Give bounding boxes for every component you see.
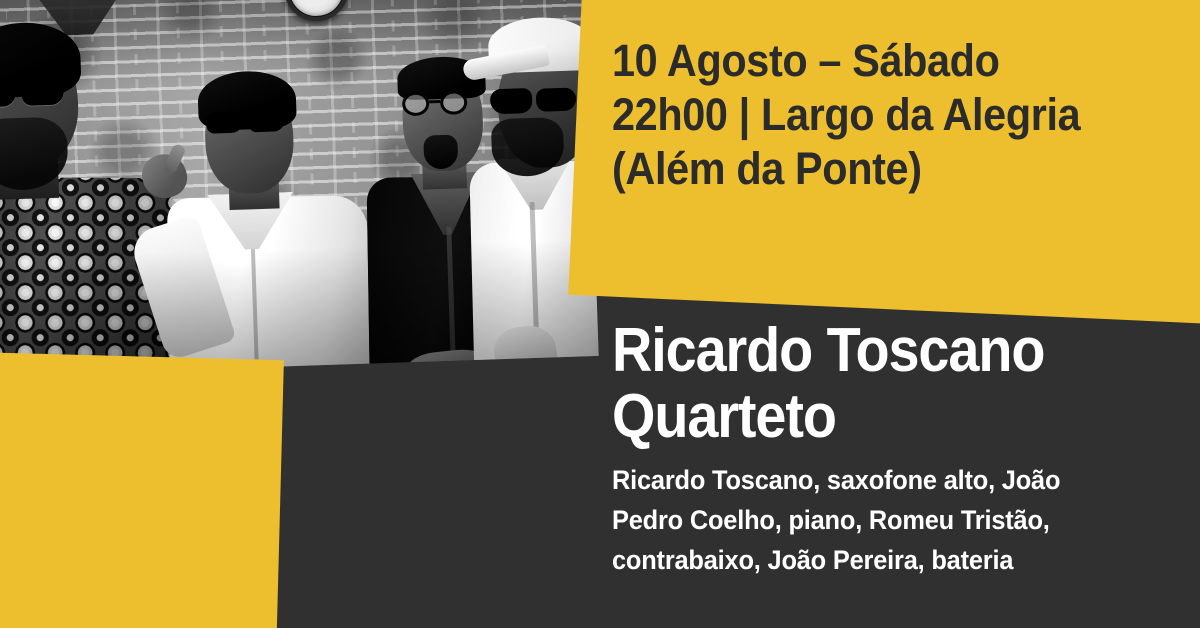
sunglasses-lens-left bbox=[206, 112, 243, 134]
musician-1-sunglasses-icon bbox=[0, 79, 74, 108]
artist-info-panel: Ricardo Toscano Quarteto Ricardo Toscano… bbox=[612, 318, 1172, 580]
band-photo-image bbox=[0, 0, 599, 376]
event-poster: 10 Agosto – Sábado 22h00 | Largo da Aleg… bbox=[0, 0, 1200, 628]
artist-name: Ricardo Toscano Quarteto bbox=[612, 318, 1116, 450]
sunglasses-lens-right bbox=[21, 79, 64, 105]
event-details-text: 10 Agosto – Sábado 22h00 | Largo da Aleg… bbox=[612, 34, 1141, 196]
sunglasses-lens-left bbox=[490, 88, 533, 114]
band-photo bbox=[0, 0, 599, 376]
musician-4-sunglasses-icon bbox=[490, 86, 579, 114]
artist-credits: Ricardo Toscano, saxofone alto, João Ped… bbox=[612, 460, 1138, 580]
musician-3-round-glasses-icon bbox=[398, 90, 483, 117]
sunglasses-lens-right bbox=[536, 88, 577, 112]
accent-block-bottom-left bbox=[0, 352, 284, 628]
glasses-lens-right bbox=[440, 90, 468, 115]
glasses-bridge bbox=[429, 100, 440, 103]
glasses-lens-left bbox=[402, 91, 430, 116]
sunglasses-lens-left bbox=[0, 81, 16, 107]
sunglasses-lens-right bbox=[248, 110, 285, 132]
musician-2-sunglasses-icon bbox=[206, 110, 293, 135]
